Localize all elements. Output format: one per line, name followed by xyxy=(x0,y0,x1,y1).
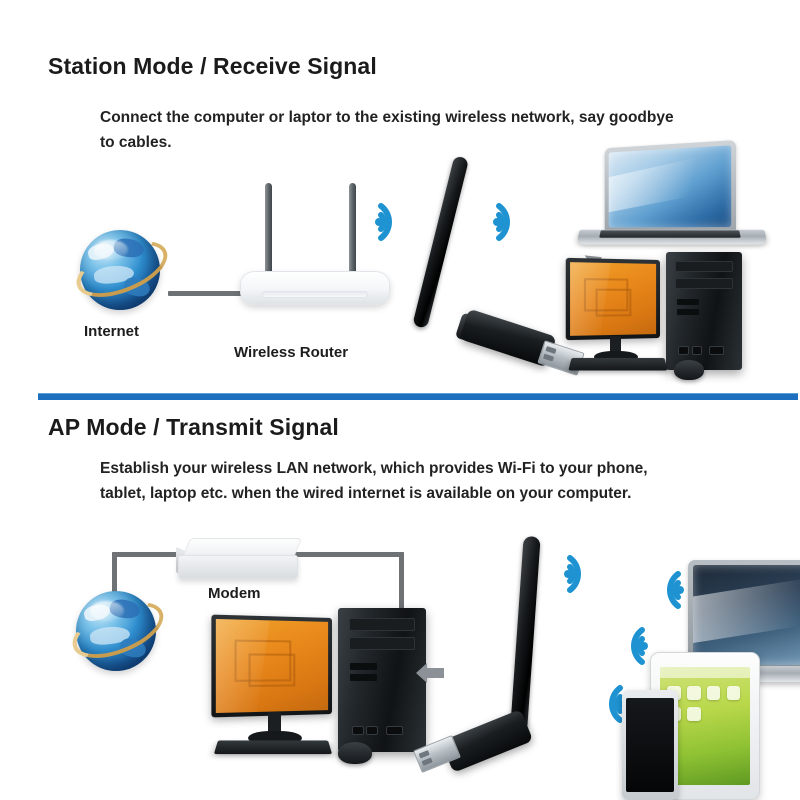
section-ap-mode: AP Mode / Transmit Signal Establish your… xyxy=(0,400,800,800)
section-station-mode: Station Mode / Receive Signal Connect th… xyxy=(0,0,800,392)
section-ap-body: Establish your wireless LAN network, whi… xyxy=(100,456,680,506)
phone-device xyxy=(622,690,678,800)
section-divider xyxy=(38,393,798,400)
infographic-page: Station Mode / Receive Signal Connect th… xyxy=(0,0,800,800)
wifi-signal-icon xyxy=(644,564,688,614)
wireless-router-label: Wireless Router xyxy=(234,344,348,361)
internet-globe-icon xyxy=(74,222,170,318)
desktop-pc-device xyxy=(568,252,780,382)
internet-globe-icon xyxy=(70,583,166,679)
wifi-signal-icon xyxy=(560,548,604,598)
modem-device xyxy=(176,538,304,584)
wifi-signal-icon xyxy=(608,620,652,670)
modem-label: Modem xyxy=(208,585,261,602)
laptop-device xyxy=(578,140,778,255)
cable-to-modem-right xyxy=(292,552,404,557)
section-ap-heading: AP Mode / Transmit Signal xyxy=(48,414,339,441)
wireless-router-device xyxy=(240,170,390,305)
section-station-heading: Station Mode / Receive Signal xyxy=(48,53,377,80)
usb-wifi-adapter-device xyxy=(400,150,580,370)
internet-label: Internet xyxy=(84,323,139,340)
